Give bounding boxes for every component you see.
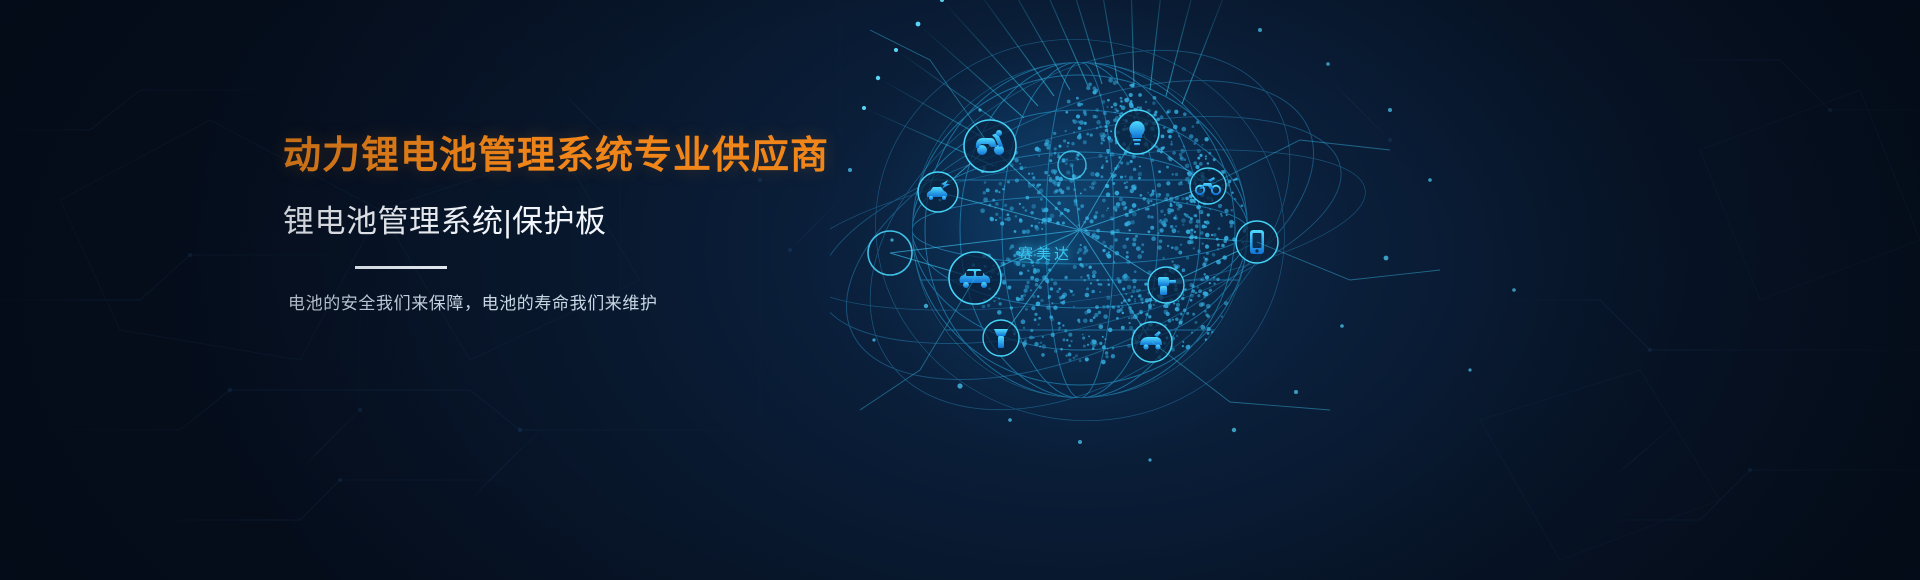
banner-copy: 动力锂电池管理系统专业供应商 锂电池管理系统|保护板 电池的安全我们来保障，电池…: [283, 132, 903, 317]
banner-subheadline: 锂电池管理系统|保护板: [283, 202, 903, 242]
banner-tagline: 电池的安全我们来保障，电池的寿命我们来维护: [288, 291, 903, 317]
divider-rule: [355, 266, 447, 269]
hero-banner: 动力锂电池管理系统专业供应商 锂电池管理系统|保护板 电池的安全我们来保障，电池…: [0, 0, 1920, 580]
network-globe-illustration: [830, 0, 1550, 580]
banner-headline: 动力锂电池管理系统专业供应商: [283, 132, 903, 180]
